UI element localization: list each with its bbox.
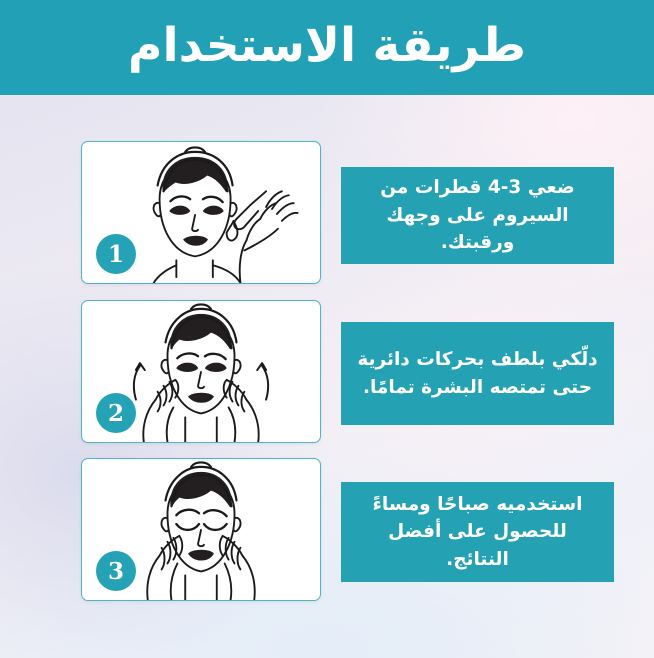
step-image-card[interactable]: 3 (81, 458, 321, 601)
step-number-badge: 1 (96, 234, 136, 274)
step-number-badge: 3 (96, 551, 136, 591)
step-text-panel: ضعي 3-4 قطرات من السيروم على وجهك ورقبتك… (341, 167, 614, 264)
step-text-panel: استخدميه صباحًا ومساءً للحصول على أفضل ا… (341, 482, 614, 582)
step-image-card[interactable]: 2 (81, 300, 321, 443)
step-description: دلّكي بلطف بحركات دائرية حتى تمتصه البشر… (357, 346, 598, 401)
step-row: 2 دلّكي بلطف بحركات دائرية حتى تمتصه الب… (0, 300, 654, 443)
header-bar: طريقة الاستخدام (0, 0, 654, 95)
step-text-panel: دلّكي بلطف بحركات دائرية حتى تمتصه البشر… (341, 322, 614, 425)
infographic-page: طريقة الاستخدام (0, 0, 654, 658)
step-description: استخدميه صباحًا ومساءً للحصول على أفضل ا… (357, 491, 598, 573)
step-row: 3 استخدميه صباحًا ومساءً للحصول على أفضل… (0, 458, 654, 601)
page-title: طريقة الاستخدام (128, 22, 526, 69)
step-description: ضعي 3-4 قطرات من السيروم على وجهك ورقبتك… (357, 174, 598, 256)
step-number-badge: 2 (96, 393, 136, 433)
step-row: 1 ضعي 3-4 قطرات من السيروم على وجهك ورقب… (0, 141, 654, 284)
step-image-card[interactable]: 1 (81, 141, 321, 284)
steps-container: 1 ضعي 3-4 قطرات من السيروم على وجهك ورقب… (0, 95, 654, 658)
